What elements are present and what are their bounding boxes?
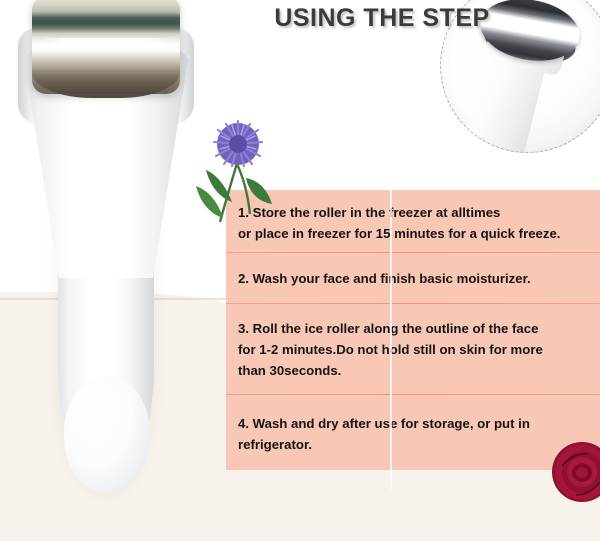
step-4-line-1: 4. Wash and dry after use for storage, o… xyxy=(238,413,588,434)
step-3-line-1: 3. Roll the ice roller along the outline… xyxy=(238,318,588,339)
product-roller-highlight xyxy=(40,38,172,48)
step-1-line-2: or place in freezer for 15 minutes for a… xyxy=(238,223,588,244)
page-title: USING THE STEP xyxy=(232,4,532,33)
step-item-3: 3. Roll the ice roller along the outline… xyxy=(226,304,600,394)
background-cream-right xyxy=(215,470,600,541)
product-image-ice-roller xyxy=(0,0,212,496)
step-item-1: 1. Store the roller in the freezer at al… xyxy=(226,190,600,252)
steps-panel: 1. Store the roller in the freezer at al… xyxy=(226,190,600,470)
step-item-2: 2. Wash your face and finish basic moist… xyxy=(226,253,600,303)
step-3-line-2: for 1-2 minutes.Do not hold still on ski… xyxy=(238,339,588,360)
step-3-line-3: than 30seconds. xyxy=(238,360,588,381)
step-2-line-1: 2. Wash your face and finish basic moist… xyxy=(238,268,588,289)
step-4-line-2: refrigerator. xyxy=(238,434,588,455)
product-handle-tip xyxy=(64,376,150,494)
red-rose-decoration xyxy=(548,438,600,506)
cornflower-decoration xyxy=(186,118,276,223)
step-item-4: 4. Wash and dry after use for storage, o… xyxy=(226,395,600,473)
step-1-line-1: 1. Store the roller in the freezer at al… xyxy=(238,202,588,223)
